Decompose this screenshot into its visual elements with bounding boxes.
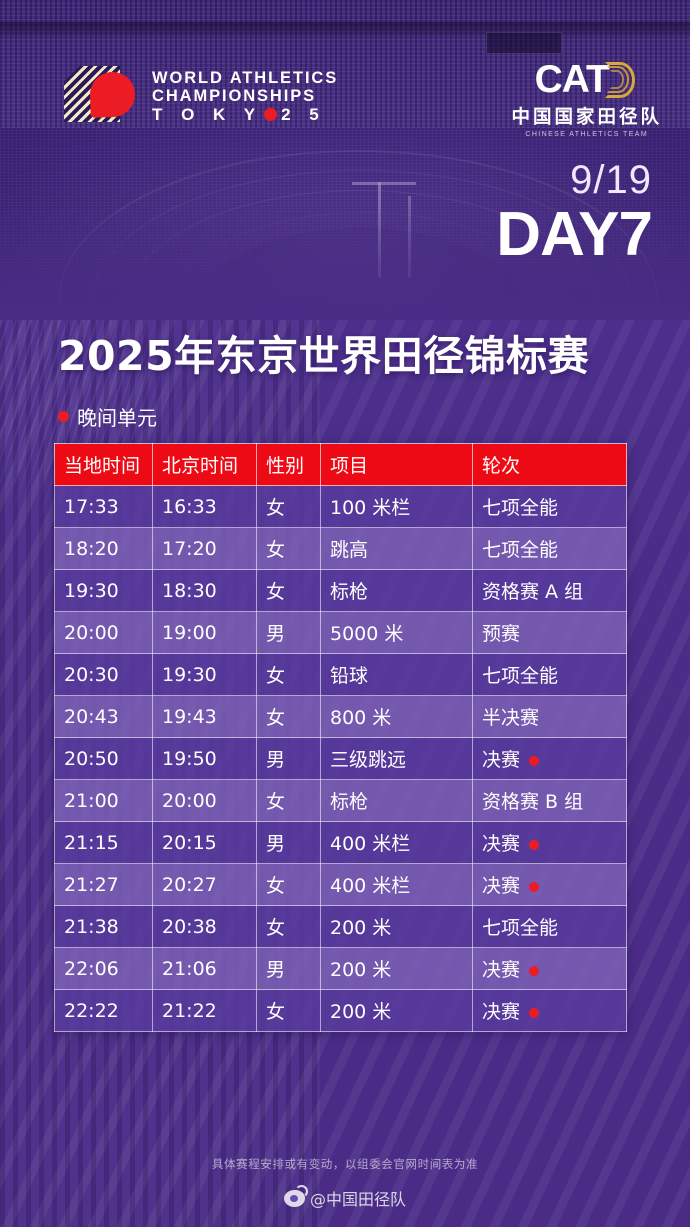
table-row: 19:3018:30女标枪资格赛 A 组: [55, 570, 627, 612]
final-marker-icon: [529, 1008, 539, 1018]
cat-chinese-name: 中国国家田径队: [511, 103, 662, 129]
round-label: 决赛: [482, 749, 520, 771]
round-label: 决赛: [482, 1001, 520, 1023]
schedule-cell-gender: 女: [257, 990, 321, 1032]
schedule-cell-gender: 男: [257, 738, 321, 780]
schedule-cell-gender: 女: [257, 906, 321, 948]
schedule-cell-beijing-time: 20:38: [153, 906, 257, 948]
schedule-cell-beijing-time: 17:20: [153, 528, 257, 570]
schedule-cell-gender: 女: [257, 864, 321, 906]
schedule-cell-local-time: 17:33: [55, 486, 153, 528]
schedule-cell-event: 400 米栏: [321, 822, 473, 864]
schedule-cell-local-time: 20:43: [55, 696, 153, 738]
round-label: 资格赛 A 组: [482, 581, 583, 603]
round-label: 决赛: [482, 833, 520, 855]
wa-red-dot-icon: [264, 108, 277, 121]
column-header-round: 轮次: [473, 444, 627, 486]
schedule-cell-round: 七项全能: [473, 654, 627, 696]
table-row: 21:2720:27女400 米栏决赛: [55, 864, 627, 906]
final-marker-icon: [529, 966, 539, 976]
schedule-cell-event: 200 米: [321, 948, 473, 990]
round-label: 决赛: [482, 959, 520, 981]
round-label: 七项全能: [482, 539, 558, 561]
schedule-cell-local-time: 19:30: [55, 570, 153, 612]
schedule-cell-gender: 女: [257, 654, 321, 696]
column-header-event: 项目: [321, 444, 473, 486]
cat-wordmark-row: CAT: [511, 58, 662, 102]
schedule-cell-event: 100 米栏: [321, 486, 473, 528]
schedule-cell-beijing-time: 21:06: [153, 948, 257, 990]
schedule-cell-event: 5000 米: [321, 612, 473, 654]
round-label: 七项全能: [482, 917, 558, 939]
schedule-cell-local-time: 21:38: [55, 906, 153, 948]
schedule-cell-local-time: 18:20: [55, 528, 153, 570]
schedule-cell-gender: 女: [257, 570, 321, 612]
footer-disclaimer: 具体赛程安排或有变动，以组委会官网时间表为准: [0, 1156, 690, 1172]
table-row: 18:2017:20女跳高七项全能: [55, 528, 627, 570]
world-athletics-mark-icon: [64, 66, 142, 128]
day-block: 9/19 DAY7: [496, 160, 652, 268]
cat-wordmark: CAT: [535, 58, 609, 102]
round-label: 预赛: [482, 623, 520, 645]
table-row: 20:4319:43女800 米半决赛: [55, 696, 627, 738]
column-header-local-time: 当地时间: [55, 444, 153, 486]
day-number: DAY7: [496, 202, 652, 268]
final-marker-icon: [529, 756, 539, 766]
table-row: 20:0019:00男5000 米预赛: [55, 612, 627, 654]
final-marker-icon: [529, 840, 539, 850]
schedule-cell-local-time: 20:50: [55, 738, 153, 780]
round-label: 半决赛: [482, 707, 539, 729]
table-row: 22:2221:22女200 米决赛: [55, 990, 627, 1032]
wa-year-text: 2 5: [281, 106, 326, 124]
schedule-cell-round: 决赛: [473, 864, 627, 906]
schedule-cell-gender: 男: [257, 948, 321, 990]
schedule-cell-gender: 女: [257, 780, 321, 822]
session-bullet-icon: [58, 411, 69, 422]
schedule-cell-local-time: 21:27: [55, 864, 153, 906]
schedule-cell-beijing-time: 19:43: [153, 696, 257, 738]
schedule-cell-round: 决赛: [473, 948, 627, 990]
table-row: 21:0020:00女标枪资格赛 B 组: [55, 780, 627, 822]
schedule-cell-event: 跳高: [321, 528, 473, 570]
round-label: 七项全能: [482, 497, 558, 519]
table-row: 17:3316:33女100 米栏七项全能: [55, 486, 627, 528]
round-label: 七项全能: [482, 665, 558, 687]
column-header-beijing-time: 北京时间: [153, 444, 257, 486]
weibo-icon: [284, 1190, 305, 1207]
schedule-cell-event: 400 米栏: [321, 864, 473, 906]
schedule-cell-gender: 女: [257, 486, 321, 528]
schedule-cell-round: 半决赛: [473, 696, 627, 738]
cat-english-name: CHINESE ATHLETICS TEAM: [511, 131, 662, 138]
schedule-cell-round: 决赛: [473, 990, 627, 1032]
schedule-cell-round: 七项全能: [473, 906, 627, 948]
schedule-cell-beijing-time: 20:15: [153, 822, 257, 864]
schedule-cell-beijing-time: 19:50: [153, 738, 257, 780]
schedule-cell-event: 铅球: [321, 654, 473, 696]
round-label: 资格赛 B 组: [482, 791, 583, 813]
schedule-cell-gender: 男: [257, 612, 321, 654]
wa-line-2: CHAMPIONSHIPS: [152, 88, 338, 106]
table-body: 17:3316:33女100 米栏七项全能18:2017:20女跳高七项全能19…: [55, 486, 627, 1032]
schedule-cell-beijing-time: 19:30: [153, 654, 257, 696]
schedule-table: 当地时间 北京时间 性别 项目 轮次 17:3316:33女100 米栏七项全能…: [54, 443, 627, 1032]
schedule-cell-event: 800 米: [321, 696, 473, 738]
schedule-cell-gender: 女: [257, 528, 321, 570]
schedule-cell-event: 200 米: [321, 906, 473, 948]
schedule-cell-event: 标枪: [321, 780, 473, 822]
round-label: 决赛: [482, 875, 520, 897]
table-row: 20:5019:50男三级跳远决赛: [55, 738, 627, 780]
schedule-cell-round: 资格赛 A 组: [473, 570, 627, 612]
final-marker-icon: [529, 882, 539, 892]
column-header-gender: 性别: [257, 444, 321, 486]
wa-line-3: T O K Y 2 5: [152, 106, 338, 124]
chinese-athletics-team-logo: CAT 中国国家田径队 CHINESE ATHLETICS TEAM: [511, 58, 662, 138]
schedule-cell-round: 七项全能: [473, 486, 627, 528]
schedule-cell-local-time: 20:30: [55, 654, 153, 696]
schedule-cell-gender: 女: [257, 696, 321, 738]
schedule-cell-event: 三级跳远: [321, 738, 473, 780]
schedule-cell-round: 资格赛 B 组: [473, 780, 627, 822]
schedule-cell-beijing-time: 21:22: [153, 990, 257, 1032]
schedule-cell-round: 预赛: [473, 612, 627, 654]
world-athletics-logo: WORLD ATHLETICS CHAMPIONSHIPS T O K Y 2 …: [64, 66, 338, 128]
schedule-cell-beijing-time: 18:30: [153, 570, 257, 612]
schedule-cell-round: 决赛: [473, 738, 627, 780]
schedule-cell-gender: 男: [257, 822, 321, 864]
schedule-cell-local-time: 22:06: [55, 948, 153, 990]
table-row: 21:1520:15男400 米栏决赛: [55, 822, 627, 864]
session-label: 晚间单元: [58, 402, 157, 431]
table-row: 22:0621:06男200 米决赛: [55, 948, 627, 990]
schedule-cell-beijing-time: 19:00: [153, 612, 257, 654]
footer-account[interactable]: @中国田径队: [0, 1186, 690, 1210]
table-row: 21:3820:38女200 米七项全能: [55, 906, 627, 948]
schedule-cell-round: 决赛: [473, 822, 627, 864]
schedule-cell-beijing-time: 20:27: [153, 864, 257, 906]
footer-handle-text: @中国田径队: [310, 1186, 406, 1210]
schedule-cell-local-time: 21:15: [55, 822, 153, 864]
schedule-cell-local-time: 20:00: [55, 612, 153, 654]
schedule-cell-local-time: 22:22: [55, 990, 153, 1032]
page-title: 2025年东京世界田径锦标赛: [58, 322, 589, 382]
schedule-cell-local-time: 21:00: [55, 780, 153, 822]
table-header-row: 当地时间 北京时间 性别 项目 轮次: [55, 444, 627, 486]
schedule-cell-beijing-time: 20:00: [153, 780, 257, 822]
cat-swirl-icon: [605, 60, 639, 100]
schedule-cell-round: 七项全能: [473, 528, 627, 570]
session-label-text: 晚间单元: [77, 402, 157, 431]
world-athletics-wordmark: WORLD ATHLETICS CHAMPIONSHIPS T O K Y 2 …: [152, 70, 338, 124]
logo-red-sun-shape: [89, 71, 136, 118]
schedule-cell-beijing-time: 16:33: [153, 486, 257, 528]
schedule-cell-event: 200 米: [321, 990, 473, 1032]
wa-tokyo-text: T O K Y: [152, 106, 262, 124]
date-label: 9/19: [496, 160, 652, 200]
schedule-cell-event: 标枪: [321, 570, 473, 612]
wa-line-1: WORLD ATHLETICS: [152, 70, 338, 88]
table-row: 20:3019:30女铅球七项全能: [55, 654, 627, 696]
table-header: 当地时间 北京时间 性别 项目 轮次: [55, 444, 627, 486]
